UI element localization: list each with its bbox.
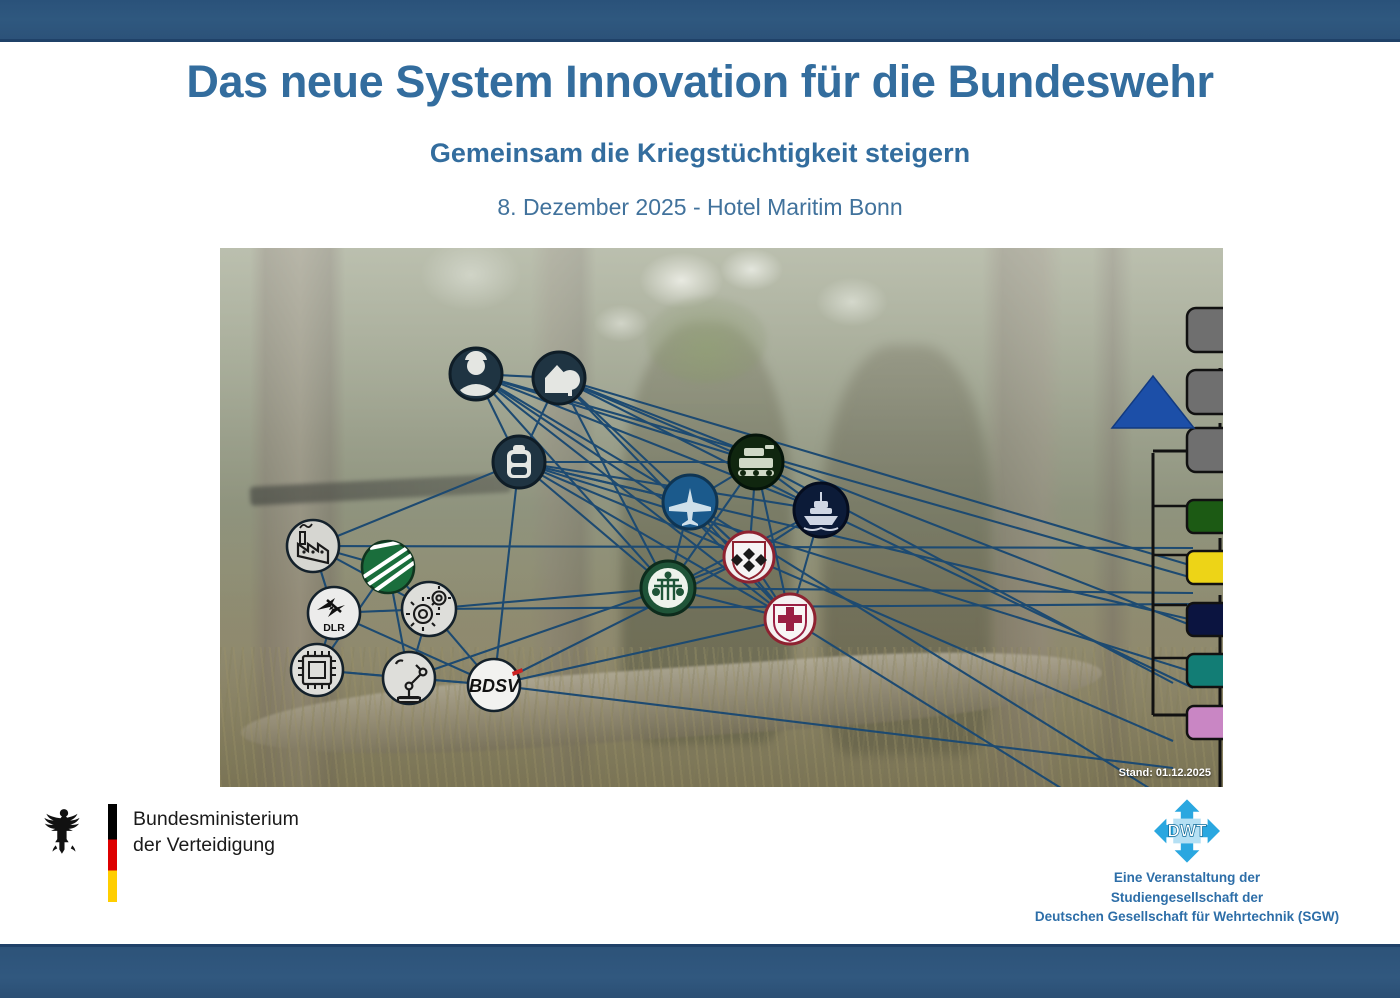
page-subtitle: Gemeinsam die Kriegstüchtigkeit steigern <box>0 138 1400 169</box>
node-industry[interactable] <box>287 520 339 572</box>
node-sanitaetsdienst[interactable] <box>765 594 815 644</box>
page-title: Das neue System Innovation für die Bunde… <box>0 58 1400 105</box>
bar-navy <box>1187 603 1223 636</box>
federal-eagle-icon <box>38 806 90 862</box>
node-person[interactable] <box>450 348 502 400</box>
triangle-left-icon <box>1112 376 1194 428</box>
node-heer[interactable] <box>641 561 695 615</box>
dwt-line-2: Studiengesellschaft der <box>1012 888 1362 908</box>
node-luftwaffe[interactable] <box>663 475 717 529</box>
bar-teal <box>1187 654 1223 687</box>
node-heer-vehicle[interactable] <box>729 435 783 489</box>
bottom-accent-bar <box>0 944 1400 998</box>
dwt-line-3: Deutschen Gesellschaft für Wehrtechnik (… <box>1012 907 1362 927</box>
node-bdsv[interactable]: BDSV <box>468 659 523 711</box>
grey-box-3 <box>1187 428 1223 472</box>
event-dateline: 8. Dezember 2025 - Hotel Maritim Bonn <box>0 194 1400 221</box>
node-equipment[interactable] <box>493 436 545 488</box>
dwt-line-1: Eine Veranstaltung der <box>1012 868 1362 888</box>
node-cir[interactable] <box>724 532 774 582</box>
german-flag-bar-icon <box>108 804 117 902</box>
node-fraunhofer[interactable] <box>362 541 415 598</box>
node-gears[interactable] <box>402 582 456 636</box>
bdsv-label: BDSV <box>469 676 521 696</box>
network-diagram-svg: DLR <box>220 248 1223 787</box>
dlr-label: DLR <box>323 622 345 634</box>
node-marine[interactable] <box>794 483 848 537</box>
node-microchip[interactable] <box>291 644 343 696</box>
grey-box-2 <box>1187 370 1223 414</box>
bar-green <box>1187 500 1223 533</box>
bar-yellow <box>1187 551 1223 584</box>
bmvg-logo: Bundesministerium der Verteidigung <box>38 800 338 910</box>
node-robot-arm[interactable] <box>383 652 435 704</box>
grey-box-1 <box>1187 308 1223 352</box>
dwt-logo-icon: DWT <box>1152 798 1222 864</box>
bmvg-line-2: der Verteidigung <box>133 832 299 858</box>
bar-violet <box>1187 706 1223 739</box>
dwt-mark-text: DWT <box>1167 821 1207 841</box>
bmvg-line-1: Bundesministerium <box>133 806 299 832</box>
node-infrastructure[interactable] <box>533 352 585 404</box>
figure-caption: Stand: 01.12.2025 <box>1119 767 1211 779</box>
dwt-logo-block: DWT Eine Veranstaltung der Studiengesell… <box>1012 798 1362 927</box>
top-accent-bar <box>0 0 1400 42</box>
diagram-figure: DLR <box>220 248 1223 787</box>
node-dlr[interactable]: DLR <box>308 587 360 639</box>
